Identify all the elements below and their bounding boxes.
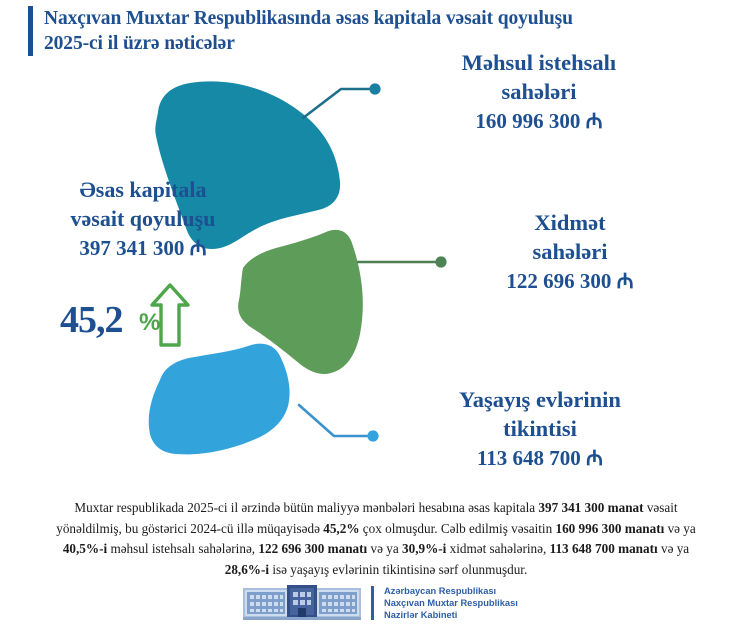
growth-indicator: 45,2 % [60,282,220,350]
callout-housing-title-2: tikintisi [370,414,710,443]
para-text-8: və ya [658,541,690,556]
para-text-1: Muxtar respublikada 2025-ci il ərzində b… [74,500,538,515]
para-bold-4: 40,5%-i [63,541,107,556]
para-text-6: və ya [367,541,402,556]
callout-production-value: 160 996 300 ₼ [374,106,704,136]
footer-divider [371,586,374,620]
para-text-7: xidmət sahələrinə, [446,541,549,556]
callout-services: Xidmət sahələri 122 696 300 ₼ [420,208,720,296]
total-investment-label: Əsas kapitala vəsait qoyuluşu 397 341 30… [18,175,268,264]
para-text-5: məhsul istehsalı sahələrinə, [107,541,258,556]
callout-housing-value: 113 648 700 ₼ [370,443,710,473]
callout-production: Məhsul istehsalı sahələri 160 996 300 ₼ [374,48,704,136]
callout-services-value: 122 696 300 ₼ [420,266,720,296]
title-accent-bar [28,6,33,56]
callout-housing: Yaşayış evlərinin tikintisi 113 648 700 … [370,385,710,473]
growth-percent-symbol: % [139,310,160,336]
callout-services-title-1: Xidmət [420,208,720,237]
para-bold-7: 113 648 700 manatı [550,541,658,556]
segment-housing [149,344,290,455]
para-bold-8: 28,6%-i [225,562,269,577]
government-building-icon [243,584,361,622]
callout-production-title-1: Məhsul istehsalı [374,48,704,77]
total-title-line-2: vəsait qoyuluşu [18,204,268,233]
para-text-9: isə yaşayış evlərinin tikintisinə sərf o… [269,562,527,577]
callout-services-title-2: sahələri [420,237,720,266]
footer-line-2: Naxçıvan Muxtar Respublikası [384,597,518,609]
total-value: 397 341 300 ₼ [18,233,268,264]
connector-housing [299,405,379,442]
total-title-line-1: Əsas kapitala [18,175,268,204]
footer-line-3: Nazirlər Kabineti [384,609,518,621]
para-text-4: və ya [664,521,696,536]
para-bold-2: 45,2% [323,521,359,536]
title-line-1: Naxçıvan Muxtar Respublikasında əsas kap… [44,6,573,31]
summary-paragraph: Muxtar respublikada 2025-ci il ərzində b… [56,498,696,580]
footer-logo-block: Azərbaycan Respublikası Naxçıvan Muxtar … [243,584,518,622]
callout-housing-title-1: Yaşayış evlərinin [370,385,710,414]
para-bold-1: 397 341 300 manat [538,500,643,515]
para-bold-5: 122 696 300 manatı [258,541,367,556]
para-bold-6: 30,9%-i [402,541,446,556]
callout-production-title-2: sahələri [374,77,704,106]
para-bold-3: 160 996 300 manatı [555,521,664,536]
connector-production [303,83,381,118]
growth-value: 45,2 [60,298,123,342]
footer-line-1: Azərbaycan Respublikası [384,585,518,597]
infographic-page: Naxçıvan Muxtar Respublikasında əsas kap… [0,0,750,628]
para-text-3: çox olmuşdur. Cəlb edilmiş vəsaitin [360,521,556,536]
footer-text: Azərbaycan Respublikası Naxçıvan Muxtar … [384,585,518,622]
